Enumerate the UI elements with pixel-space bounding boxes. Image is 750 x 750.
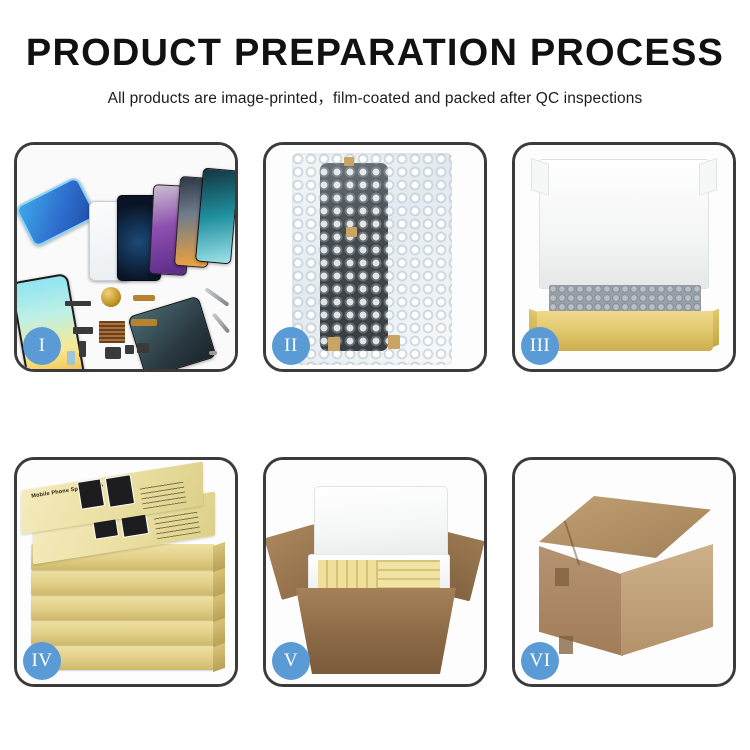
step-badge-1: I (23, 327, 61, 365)
part-flex-cable-icon (133, 295, 155, 301)
outer-carton-body-icon (296, 588, 456, 674)
panel-sealed-carton[interactable]: VI (512, 457, 736, 687)
part-connector-icon (73, 327, 93, 334)
page-subtitle: All products are image-printed，film-coat… (0, 86, 750, 108)
panel-parts-inspection[interactable]: I (14, 142, 238, 372)
wrapped-screen-icon (320, 163, 388, 351)
tape-middle-icon (346, 227, 357, 237)
kraft-box-tray-icon (537, 311, 713, 351)
tape-bottom-right-icon (388, 335, 400, 349)
part-sim-tray-icon (137, 343, 149, 353)
part-screw-tray-icon (99, 321, 125, 343)
carton-left-face-icon (539, 546, 623, 656)
step-badge-5: V (272, 642, 310, 680)
part-speaker-coil-icon (101, 287, 121, 307)
carton-tape-lower-icon (559, 636, 573, 654)
step-badge-6: VI (521, 642, 559, 680)
box-window-upper-right-icon (105, 474, 135, 508)
carton-tape-upper-icon (555, 568, 569, 586)
process-step-grid: I II III (14, 142, 736, 687)
tape-top-icon (344, 157, 354, 166)
styrofoam-lid-icon (314, 486, 448, 560)
box-window-upper-left-icon (77, 478, 105, 509)
carton-right-face-icon (621, 544, 713, 656)
kraft-box-stack-icon: Mobile Phone Spare Parts Mobile Phone Sp… (31, 480, 227, 670)
foam-lid-flap-right-icon (699, 158, 717, 196)
tape-bottom-left-icon (328, 337, 340, 351)
panel-box-stack[interactable]: Mobile Phone Spare Parts Mobile Phone Sp… (14, 457, 238, 687)
step-badge-4: IV (23, 642, 61, 680)
panel-bubble-wrap[interactable]: II (263, 142, 487, 372)
phone-teal-display-icon (195, 168, 235, 265)
part-taptic-engine-icon (105, 347, 121, 359)
step-badge-2: II (272, 327, 310, 365)
foam-lid-flap-left-icon (531, 158, 549, 196)
part-screw-icon (209, 351, 217, 355)
step-badge-3: III (521, 327, 559, 365)
part-small-chip-icon (79, 341, 86, 357)
panel-foam-carton[interactable]: V (263, 457, 487, 687)
panel-inner-box[interactable]: III (512, 142, 736, 372)
part-antenna-strip-icon (65, 301, 91, 306)
part-button-icon (125, 345, 134, 354)
foam-lid-icon (539, 159, 709, 289)
header: PRODUCT PREPARATION PROCESS All products… (0, 0, 750, 108)
part-camera-flex-icon (131, 319, 157, 326)
part-battery-connector-icon (67, 351, 75, 365)
page-title: PRODUCT PREPARATION PROCESS (0, 34, 750, 74)
